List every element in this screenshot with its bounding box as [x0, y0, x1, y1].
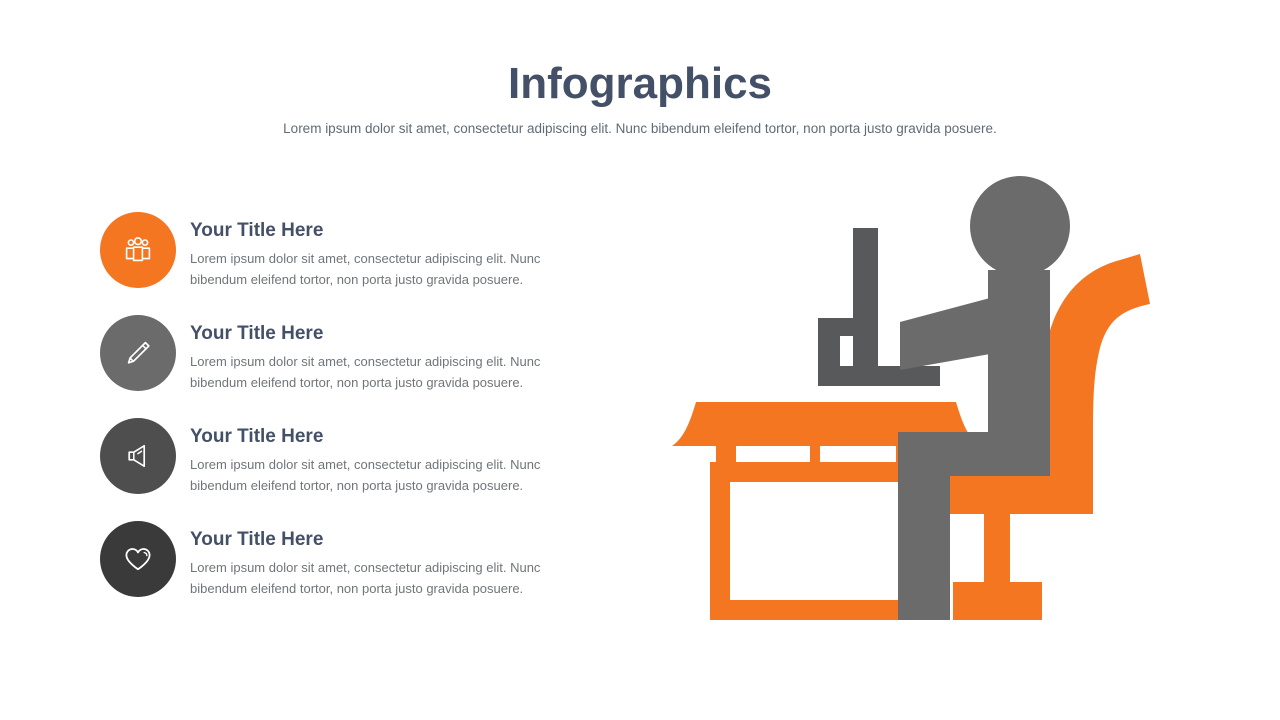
- person-shin: [898, 432, 950, 620]
- group-users-icon: [121, 233, 155, 267]
- page-title: Infographics: [0, 58, 1280, 110]
- slide-canvas: Infographics Lorem ipsum dolor sit amet,…: [0, 0, 1280, 720]
- person-at-desk-with-computer-illustration: [650, 170, 1230, 640]
- list-item-title: Your Title Here: [190, 426, 610, 448]
- list-item-description: Lorem ipsum dolor sit amet, consectetur …: [190, 248, 595, 290]
- list-item-icon-circle-3[interactable]: [100, 418, 176, 494]
- list-item-icon-circle-4[interactable]: [100, 521, 176, 597]
- list-item-text-1: Your Title Here Lorem ipsum dolor sit am…: [190, 220, 610, 290]
- heart-icon: [121, 542, 155, 576]
- list-item[interactable]: Your Title Here Lorem ipsum dolor sit am…: [100, 315, 620, 418]
- list-item-title: Your Title Here: [190, 323, 610, 345]
- list-item-title: Your Title Here: [190, 529, 610, 551]
- feature-list: Your Title Here Lorem ipsum dolor sit am…: [100, 212, 620, 624]
- list-item-text-3: Your Title Here Lorem ipsum dolor sit am…: [190, 426, 610, 496]
- list-item-text-2: Your Title Here Lorem ipsum dolor sit am…: [190, 323, 610, 393]
- list-item-text-4: Your Title Here Lorem ipsum dolor sit am…: [190, 529, 610, 599]
- speaker-volume-icon: [121, 439, 155, 473]
- pencil-edit-icon: [121, 336, 155, 370]
- header: Infographics Lorem ipsum dolor sit amet,…: [0, 58, 1280, 138]
- list-item-description: Lorem ipsum dolor sit amet, consectetur …: [190, 351, 595, 393]
- list-item-icon-circle-1[interactable]: [100, 212, 176, 288]
- list-item-title: Your Title Here: [190, 220, 610, 242]
- person-head: [970, 176, 1070, 276]
- person-arm: [900, 298, 990, 370]
- list-item-description: Lorem ipsum dolor sit amet, consectetur …: [190, 454, 595, 496]
- list-item[interactable]: Your Title Here Lorem ipsum dolor sit am…: [100, 521, 620, 624]
- list-item-description: Lorem ipsum dolor sit amet, consectetur …: [190, 557, 595, 599]
- page-subtitle: Lorem ipsum dolor sit amet, consectetur …: [0, 120, 1280, 138]
- list-item[interactable]: Your Title Here Lorem ipsum dolor sit am…: [100, 212, 620, 315]
- list-item-icon-circle-2[interactable]: [100, 315, 176, 391]
- list-item[interactable]: Your Title Here Lorem ipsum dolor sit am…: [100, 418, 620, 521]
